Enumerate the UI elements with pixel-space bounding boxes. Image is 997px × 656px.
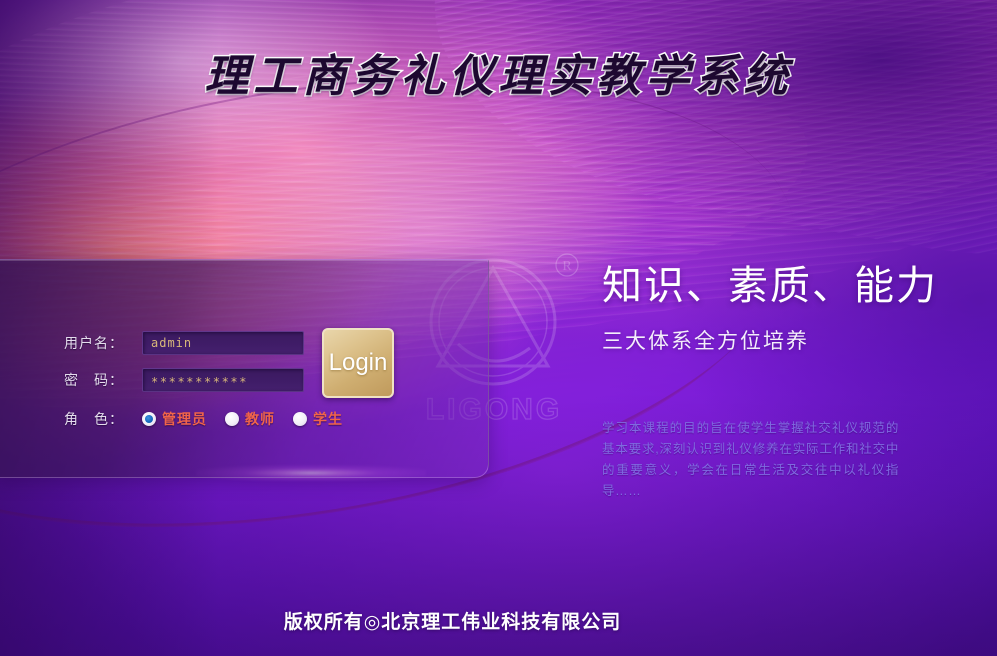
role-option-teacher-label: 教师 [245,409,275,429]
registered-trademark-icon: R [554,252,580,278]
role-option-teacher[interactable]: 教师 [225,409,275,429]
radio-icon-admin [142,412,156,426]
role-option-student[interactable]: 学生 [293,409,343,429]
role-option-admin[interactable]: 管理员 [142,409,207,429]
role-row: 角 色： 管理员 教师 学生 [64,409,361,429]
role-radio-group: 管理员 教师 学生 [142,409,361,429]
username-label: 用户名： [64,333,142,353]
svg-text:R: R [562,259,572,274]
page-title: 理工商务礼仪理实教学系统 [0,40,997,104]
username-row: 用户名： [64,331,304,355]
radio-icon-teacher [225,412,239,426]
promo-subhead: 三大体系全方位培养 [602,325,809,355]
password-label: 密 码： [64,370,142,390]
login-page: LIGONG R 理工商务礼仪理实教学系统 用户名： 密 码： ********… [0,0,997,656]
password-row: 密 码： *********** [64,368,304,392]
role-label: 角 色： [64,409,142,429]
promo-description: 学习本课程的目的旨在使学生掌握社交礼仪规范的基本要求,深刻认识到礼仪修养在实际工… [602,418,899,502]
username-input[interactable] [142,331,304,355]
copyright-footer: 版权所有◎北京理工伟业科技有限公司 [0,607,905,634]
login-button[interactable]: Login [322,328,394,398]
role-option-student-label: 学生 [313,409,343,429]
password-input[interactable]: *********** [142,368,304,392]
promo-headline: 知识、素质、能力 [602,253,938,311]
radio-icon-student [293,412,307,426]
role-option-admin-label: 管理员 [162,409,207,429]
